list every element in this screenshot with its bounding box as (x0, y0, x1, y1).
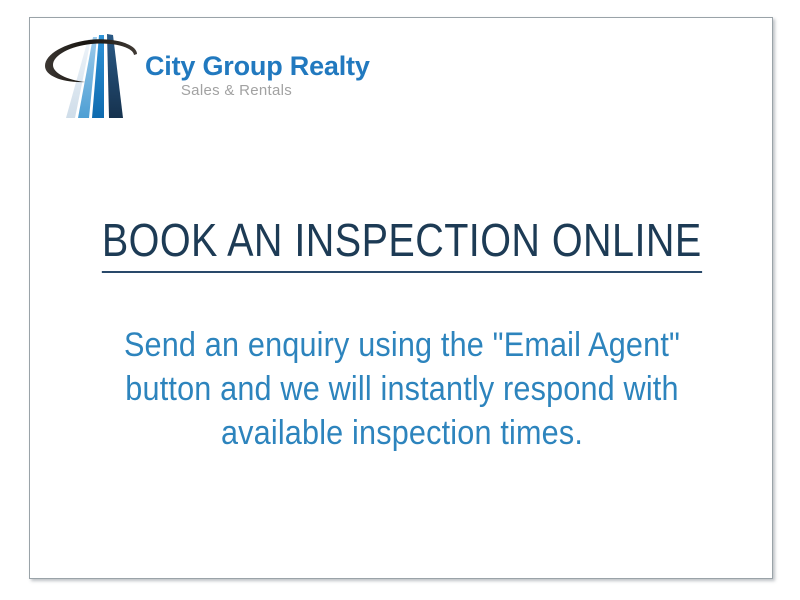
company-name: City Group Realty (145, 52, 360, 80)
city-group-realty-logo-mark (41, 32, 145, 124)
page-title: BOOK AN INSPECTION ONLINE (102, 215, 702, 273)
logo-wordmark: City Group Realty Sales & Rentals (145, 52, 360, 99)
slide-frame: City Group Realty Sales & Rentals BOOK A… (29, 17, 773, 579)
body-paragraph: Send an enquiry using the "Email Agent" … (30, 323, 774, 455)
body-line-3: available inspection times. (67, 411, 737, 455)
headline-container: BOOK AN INSPECTION ONLINE (30, 215, 774, 273)
logo-mark-svg (41, 32, 145, 124)
company-logo: City Group Realty Sales & Rentals (41, 32, 361, 128)
body-line-1: Send an enquiry using the "Email Agent" (67, 323, 737, 367)
body-line-2: button and we will instantly respond wit… (67, 367, 737, 411)
slide-root: City Group Realty Sales & Rentals BOOK A… (0, 0, 800, 600)
company-tagline: Sales & Rentals (145, 82, 360, 99)
